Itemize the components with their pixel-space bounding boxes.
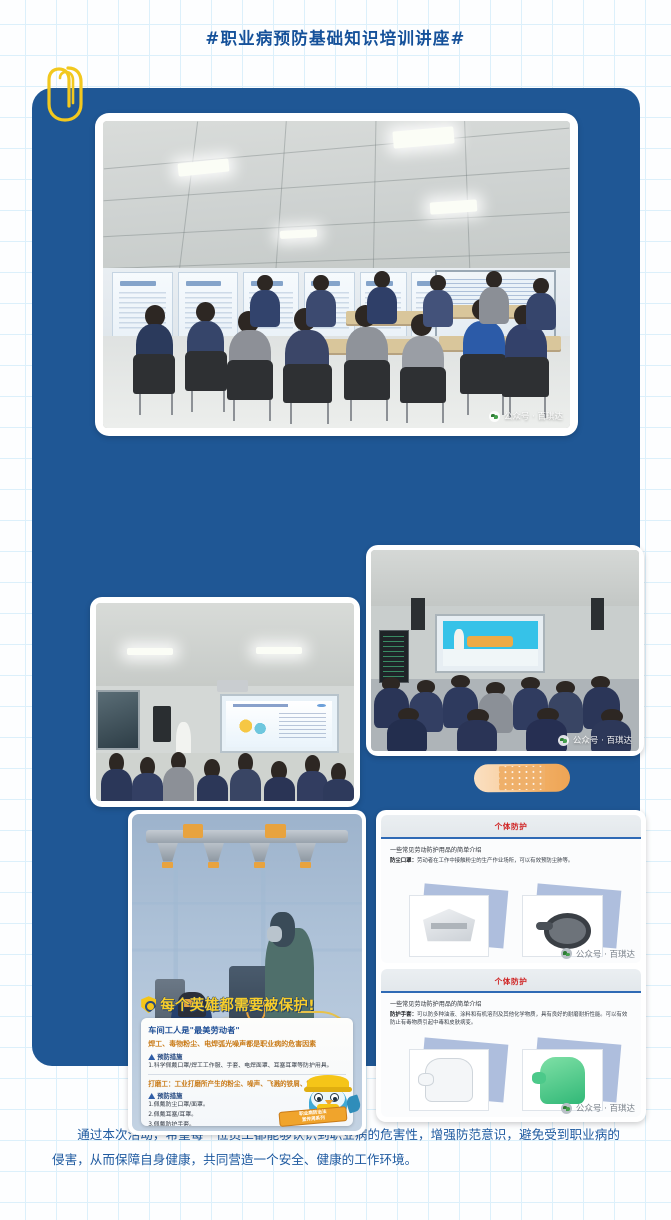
bandage-pad — [499, 766, 545, 790]
speaker-left — [411, 598, 424, 630]
slide-desc: 防尘口罩：劳动者在工作中接触粉尘的生产作业场所，可以有效预防尘肺等。 — [390, 858, 632, 866]
watermark-text: 公众号 · 百琪达 — [576, 948, 635, 960]
wechat-logo-icon — [561, 1103, 572, 1114]
projection-screen — [220, 694, 339, 753]
slide-desc-text: 劳动者在工作中接触粉尘的生产作业场所，可以有效预防尘肺等。 — [417, 858, 573, 864]
page-title-bar: #职业病预防基础知识培训讲座# — [0, 25, 671, 49]
ceiling — [103, 121, 570, 287]
page-title: #职业病预防基础知识培训讲座# — [205, 29, 465, 48]
projection-screen — [435, 614, 545, 672]
ceiling-projector — [217, 680, 248, 692]
slide-watermark: 公众号 · 百琪达 — [561, 1102, 635, 1114]
slide-watermark: 公众号 · 百琪达 — [561, 948, 635, 960]
wechat-logo-icon — [489, 411, 500, 422]
wechat-logo-icon — [561, 948, 572, 959]
ceiling — [96, 603, 354, 690]
photo-watermark: 公众号 · 百琪达 — [558, 734, 632, 746]
slide-body: 一些常见劳动防护用品的简单介绍 防护手套：可以防多种油液、涂料和有机溶剂及其他化… — [381, 993, 641, 1117]
wechat-logo-icon — [558, 735, 569, 746]
slide-card-dust-mask[interactable]: 个体防护 一些常见劳动防护用品的简单介绍 防尘口罩：劳动者在工作中接触粉尘的生产… — [381, 815, 641, 963]
slide-desc-text: 可以防多种油液、涂料和有机溶剂及其他化学物质，具有良好的耐磨耐折性能。可以有效防… — [390, 1012, 627, 1026]
poster-headline: 每个英雄都需要被保护! — [141, 994, 357, 1015]
mascot-wing — [345, 1094, 362, 1113]
photo-audience-screen: 公众号 · 百琪达 — [371, 550, 639, 751]
slide-term: 防尘口罩： — [390, 858, 417, 864]
respirator-mask-icon — [270, 912, 295, 947]
watermark-text: 公众号 · 百琪达 — [576, 1102, 635, 1114]
wall-speaker — [153, 706, 171, 742]
hood-tip — [162, 862, 174, 868]
poster-section1-label: 预防措施 — [157, 1052, 182, 1061]
slide-lead: 一些常见劳动防护用品的简单介绍 — [390, 999, 632, 1008]
photo-classroom-wide-frame[interactable]: 公众号 · 百琪达 — [95, 113, 578, 436]
safety-bird-mascot: 职业病防治法 宣传周系列 — [299, 1066, 357, 1128]
poster-panel-subheading: 焊工、毒物粉尘、电焊弧光噪声都是职业病的危害因素 — [148, 1039, 346, 1049]
paperclip-icon — [38, 58, 90, 126]
photo-classroom-wide: 公众号 · 百琪达 — [103, 121, 570, 428]
warning-triangle-icon — [148, 1054, 155, 1060]
poster-section2-label: 预防措施 — [157, 1091, 182, 1100]
warning-triangle-icon — [148, 1093, 155, 1099]
bandage-sticker — [474, 764, 570, 793]
ventilation-rail — [146, 830, 348, 843]
slide-header: 个体防护 — [381, 815, 641, 839]
photo-projector-room — [96, 603, 354, 801]
slide-lead: 一些常见劳动防护用品的简单介绍 — [390, 845, 632, 854]
hood-tip — [254, 862, 266, 868]
poster-section1-label-row: 预防措施 — [148, 1052, 346, 1061]
dust-mask-icon — [409, 891, 501, 958]
slide-title: 个体防护 — [495, 976, 528, 987]
slide-card-gloves[interactable]: 个体防护 一些常见劳动防护用品的简单介绍 防护手套：可以防多种油液、涂料和有机溶… — [381, 969, 641, 1117]
poster-headline-text: 每个英雄都需要被保护! — [160, 994, 315, 1015]
slide-body: 一些常见劳动防护用品的简单介绍 防尘口罩：劳动者在工作中接触粉尘的生产作业场所，… — [381, 839, 641, 963]
speaker-right — [591, 598, 604, 630]
slide-title: 个体防护 — [495, 821, 528, 832]
ppe-slides-frame[interactable]: 个体防护 一些常见劳动防护用品的简单介绍 防尘口罩：劳动者在工作中接触粉尘的生产… — [376, 810, 646, 1122]
shield-icon — [141, 996, 156, 1013]
photo-projector-room-frame[interactable] — [90, 597, 360, 807]
content-card: 公众号 · 百琪达 — [32, 88, 640, 1066]
slide-header: 个体防护 — [381, 969, 641, 993]
hood-tip — [208, 862, 220, 868]
photo-watermark: 公众号 · 百琪达 — [489, 410, 563, 422]
hood-tip — [300, 862, 312, 868]
safety-poster: 每个英雄都需要被保护! 车间工人是"最美劳动者" 焊工、毒物粉尘、电焊弧光噪声都… — [132, 814, 362, 1131]
slide-desc: 防护手套：可以防多种油液、涂料和有机溶剂及其他化学物质，具有良好的耐磨耐折性能。… — [390, 1012, 632, 1028]
white-glove-icon — [409, 1045, 501, 1112]
watermark-text: 公众号 · 百琪达 — [573, 734, 632, 746]
watermark-text: 公众号 · 百琪达 — [504, 410, 563, 422]
poster-panel-heading: 车间工人是"最美劳动者" — [148, 1024, 346, 1036]
rail-box — [265, 824, 286, 838]
photo-audience-screen-frame[interactable]: 公众号 · 百琪达 — [366, 545, 644, 756]
hard-hat-icon — [307, 1075, 349, 1090]
safety-poster-frame[interactable]: 每个英雄都需要被保护! 车间工人是"最美劳动者" 焊工、毒物粉尘、电焊弧光噪声都… — [128, 810, 366, 1135]
slide-term: 防护手套： — [390, 1012, 417, 1018]
rail-box — [183, 824, 204, 838]
window — [96, 690, 140, 749]
